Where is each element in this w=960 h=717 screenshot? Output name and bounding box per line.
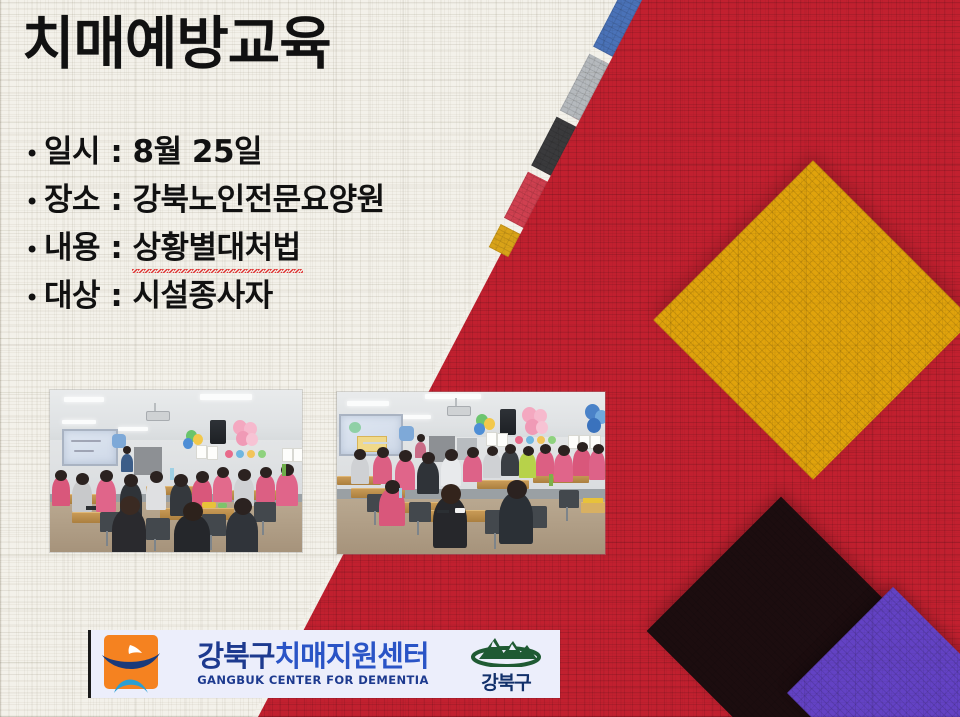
list-item: • 내용 : 상황별대처법 — [16, 222, 576, 270]
bullet-marker: • — [16, 238, 44, 262]
logo-korean-part1: 강북구 — [197, 639, 274, 673]
bullet-text-location: 장소 : 강북노인전문요양원 — [44, 174, 385, 219]
center-symbol-icon — [100, 633, 162, 695]
bullet-marker: • — [16, 286, 44, 310]
projection-screen — [339, 414, 403, 456]
projector-icon — [447, 406, 471, 416]
bullet-list: • 일시 : 8월 25일 • 장소 : 강북노인전문요양원 • 내용 : 상황… — [16, 126, 576, 318]
list-item: • 대상 : 시설종사자 — [16, 270, 576, 318]
list-item: • 일시 : 8월 25일 — [16, 126, 576, 174]
organization-logo: 강북구치매지원센터 GANGBUK CENTER FOR DEMENTIA 강북… — [88, 630, 560, 698]
mountain-icon — [469, 633, 543, 667]
bullet-text-audience: 대상 : 시설종사자 — [44, 270, 273, 315]
projection-screen — [62, 429, 118, 466]
yellow-diamond-shape — [700, 207, 926, 433]
purple-diamond-shape — [818, 618, 960, 717]
page-title: 치매예방교육 — [22, 13, 331, 76]
gangbuk-district-emblem: 강북구 — [458, 633, 560, 695]
classroom-photo-1 — [50, 390, 302, 552]
bullet-text-date: 일시 : 8월 25일 — [44, 126, 262, 171]
district-label: 강북구 — [481, 668, 530, 695]
bullet-marker: • — [16, 142, 44, 166]
list-item: • 장소 : 강북노인전문요양원 — [16, 174, 576, 222]
logo-korean-name: 강북구치매지원센터 — [197, 641, 428, 671]
classroom-photo-2 — [337, 392, 605, 554]
projector-icon — [146, 411, 170, 421]
logo-text-block: 강북구치매지원센터 GANGBUK CENTER FOR DEMENTIA — [162, 641, 458, 687]
bullet-text-content: 내용 : 상황별대처법 — [44, 222, 301, 267]
bullet-marker: • — [16, 190, 44, 214]
logo-english-name: GANGBUK CENTER FOR DEMENTIA — [197, 673, 429, 687]
presentation-slide: 치매예방교육 • 일시 : 8월 25일 • 장소 : 강북노인전문요양원 • … — [0, 0, 960, 717]
logo-korean-part2: 치매지원센터 — [274, 639, 428, 673]
